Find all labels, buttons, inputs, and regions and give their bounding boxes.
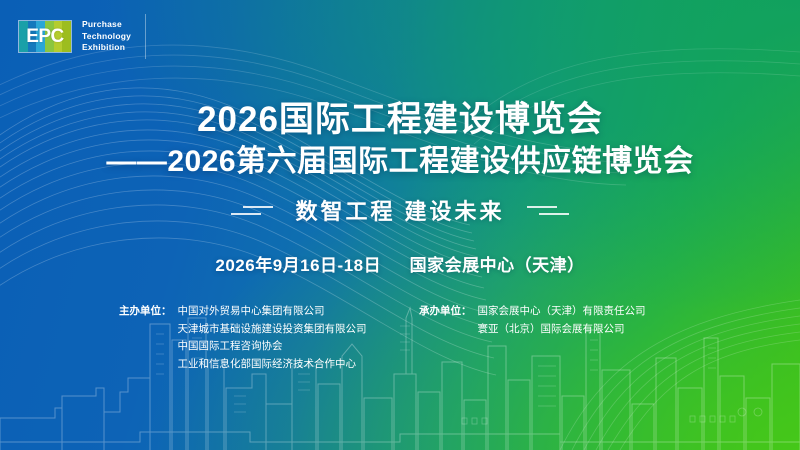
slogan-dash-left — [231, 206, 273, 215]
undertaker-organizer-item: 寰亚（北京）国际会展有限公司 — [478, 321, 646, 339]
event-date: 2026年9月16日-18日 — [215, 256, 381, 275]
slogan-text: 数智工程 建设未来 — [295, 194, 504, 226]
epc-tagline-line-3: Exhibition — [82, 42, 131, 54]
host-organizer-item: 天津城市基础设施建设投资集团有限公司 — [178, 321, 367, 339]
event-venue: 国家会展中心（天津） — [410, 256, 585, 275]
epc-logo[interactable]: EPC Purchase Technology Exhibition — [18, 14, 146, 59]
organizers-section: 主办单位： 中国对外贸易中心集团有限公司 天津城市基础设施建设投资集团有限公司 … — [0, 303, 800, 373]
undertaker-organizers-block: 承办单位： 国家会展中心（天津）有限责任公司 寰亚（北京）国际会展有限公司 — [419, 303, 681, 373]
undertaker-organizer-item: 国家会展中心（天津）有限责任公司 — [478, 303, 646, 321]
epc-logo-text: EPC — [19, 21, 71, 52]
host-organizer-item: 工业和信息化部国际经济技术合作中心 — [178, 356, 367, 374]
host-organizers-label: 主办单位： — [119, 303, 172, 373]
host-organizers-list: 中国对外贸易中心集团有限公司 天津城市基础设施建设投资集团有限公司 中国国际工程… — [178, 303, 367, 373]
host-organizer-item: 中国对外贸易中心集团有限公司 — [178, 303, 367, 321]
epc-logo-mark: EPC — [18, 20, 72, 53]
host-organizers-block: 主办单位： 中国对外贸易中心集团有限公司 天津城市基础设施建设投资集团有限公司 … — [119, 303, 391, 373]
slogan-dash-right — [527, 206, 569, 215]
undertaker-organizers-label: 承办单位： — [419, 303, 472, 373]
poster-headline: 2026国际工程建设博览会 ——2026第六届国际工程建设供应链博览会 — [0, 98, 800, 183]
undertaker-organizers-list: 国家会展中心（天津）有限责任公司 寰亚（北京）国际会展有限公司 — [478, 303, 646, 373]
epc-tagline-line-1: Purchase — [82, 19, 131, 31]
headline-line-2: ——2026第六届国际工程建设供应链博览会 — [0, 141, 800, 183]
host-organizer-item: 中国国际工程咨询协会 — [178, 338, 367, 356]
event-poster: EPC Purchase Technology Exhibition 2026国… — [0, 0, 800, 450]
epc-logo-tagline: Purchase Technology Exhibition — [82, 19, 131, 54]
epc-tagline-line-2: Technology — [82, 31, 131, 43]
poster-slogan: 数智工程 建设未来 — [0, 194, 800, 226]
event-date-venue: 2026年9月16日-18日 国家会展中心（天津） — [0, 251, 800, 276]
headline-line-1: 2026国际工程建设博览会 — [0, 98, 800, 141]
